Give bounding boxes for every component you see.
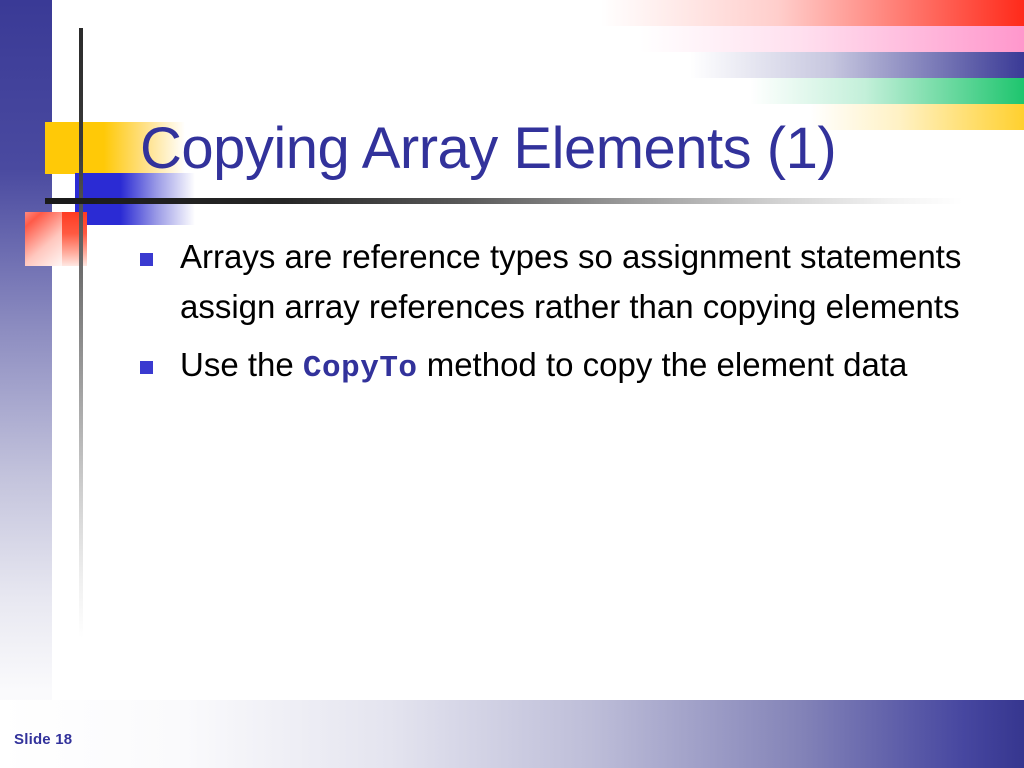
list-item: Use the CopyTo method to copy the elemen…: [140, 340, 1000, 394]
bullet-list: Arrays are reference types so assignment…: [140, 232, 1000, 402]
bottom-gradient-band: [0, 700, 1024, 768]
red-accent-decoration: [62, 212, 87, 266]
pink-bar-icon: [640, 26, 1024, 52]
bullet-text: Use the CopyTo method to copy the elemen…: [180, 340, 1000, 394]
green-bar-icon: [750, 78, 1024, 104]
red-bar-icon: [600, 0, 1024, 26]
title-underline-rule: [45, 198, 963, 204]
list-item: Arrays are reference types so assignment…: [140, 232, 1000, 332]
bullet-text-segment: method to copy the element data: [418, 346, 908, 383]
slide-canvas: Copying Array Elements (1) Arrays are re…: [0, 0, 1024, 768]
slide-number-label: Slide 18: [14, 731, 72, 748]
page-title: Copying Array Elements (1): [140, 116, 980, 182]
square-bullet-icon: [140, 253, 153, 266]
square-bullet-icon: [140, 361, 153, 374]
code-token-copyto: CopyTo: [303, 351, 418, 386]
left-gradient-band: [0, 0, 52, 768]
bullet-text-segment: Use the: [180, 346, 303, 383]
bullet-text-segment: Arrays are reference types so assignment…: [180, 238, 961, 325]
navy-bar-icon: [690, 52, 1024, 78]
vertical-rule: [79, 28, 83, 638]
bullet-text: Arrays are reference types so assignment…: [180, 232, 1000, 332]
